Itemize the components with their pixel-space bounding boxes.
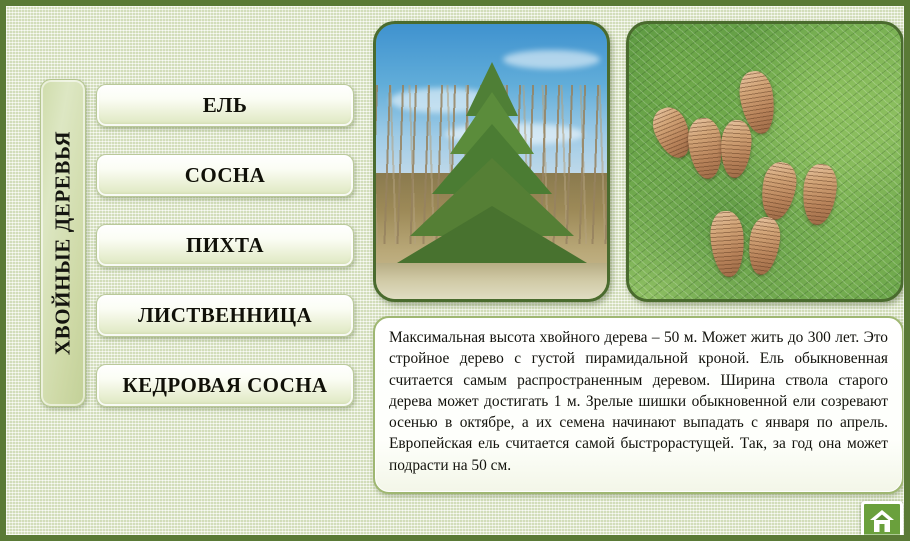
menu-button-label: ПИХТА bbox=[186, 233, 264, 258]
menu-button-el[interactable]: ЕЛЬ bbox=[96, 84, 354, 127]
photo-spruce-cones-image bbox=[629, 24, 901, 299]
menu-button-label: ЕЛЬ bbox=[203, 93, 247, 118]
menu-button-label: СОСНА bbox=[185, 163, 265, 188]
menu-button-pihta[interactable]: ПИХТА bbox=[96, 224, 354, 267]
home-icon bbox=[869, 509, 895, 533]
photo-spruce-tree bbox=[373, 21, 610, 302]
photo-spruce-tree-image bbox=[376, 24, 607, 299]
foreground-strip bbox=[376, 263, 607, 299]
description-panel: Максимальная высота хвойного дерева – 50… bbox=[373, 316, 904, 494]
photo-spruce-cones bbox=[626, 21, 904, 302]
menu-button-listvennica[interactable]: ЛИСТВЕННИЦА bbox=[96, 294, 354, 337]
category-label-panel: ХВОЙНЫЕ ДЕРЕВЬЯ bbox=[40, 79, 86, 407]
description-text: Максимальная высота хвойного дерева – 50… bbox=[389, 327, 888, 476]
slide-root: ХВОЙНЫЕ ДЕРЕВЬЯ ЕЛЬ СОСНА ПИХТА ЛИСТВЕНН… bbox=[0, 0, 910, 541]
menu-button-kedrovaya-sosna[interactable]: КЕДРОВАЯ СОСНА bbox=[96, 364, 354, 407]
category-label-text: ХВОЙНЫЕ ДЕРЕВЬЯ bbox=[51, 131, 76, 355]
menu-button-label: КЕДРОВАЯ СОСНА bbox=[122, 373, 327, 398]
home-button[interactable] bbox=[861, 501, 903, 541]
menu-button-label: ЛИСТВЕННИЦА bbox=[138, 303, 312, 328]
menu-button-list: ЕЛЬ СОСНА ПИХТА ЛИСТВЕННИЦА КЕДРОВАЯ СОС… bbox=[96, 84, 354, 407]
menu-button-sosna[interactable]: СОСНА bbox=[96, 154, 354, 197]
